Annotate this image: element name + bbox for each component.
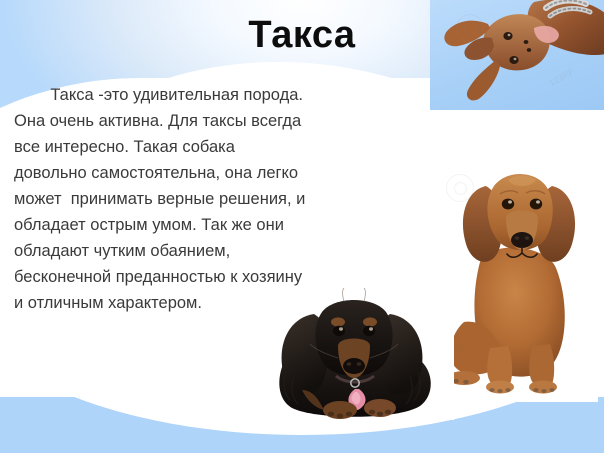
slide-body-text: Такса -это удивительная порода. Она очен… bbox=[14, 82, 310, 316]
slide-canvas: 123RF bbox=[0, 0, 604, 453]
page-title: Такса bbox=[0, 14, 604, 57]
